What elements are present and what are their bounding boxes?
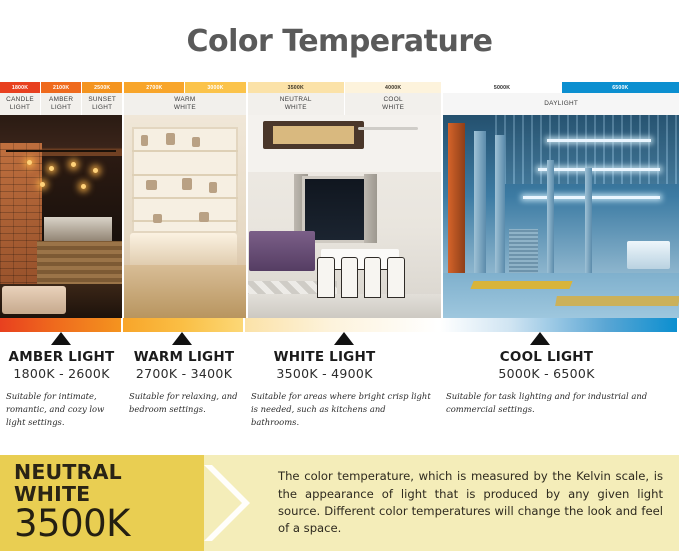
panel-warm: 2700K 3000K WARM WHITE bbox=[124, 82, 247, 318]
captions-row: AMBER LIGHT 1800K - 2600K Suitable for i… bbox=[0, 345, 679, 428]
caption-cool-light: COOL LIGHT 5000K - 6500K Suitable for ta… bbox=[440, 349, 677, 428]
kelvin-chip-5000k: 5000K bbox=[443, 82, 561, 93]
summary-band: NEUTRAL WHITE 3500K The color temperatur… bbox=[0, 455, 679, 551]
panel-cool-names: DAYLIGHT bbox=[443, 93, 679, 115]
marker-warm-light bbox=[172, 332, 192, 345]
kelvin-chip-2700k: 2700K bbox=[124, 82, 185, 93]
scale-markers bbox=[0, 332, 679, 345]
light-name-neutral-white-line2: WHITE bbox=[285, 104, 307, 112]
light-name-neutral-white-line1: NEUTRAL bbox=[280, 96, 312, 104]
caption-warm-range: 2700K - 3400K bbox=[129, 366, 239, 381]
light-name-sunset: SUNSET LIGHT bbox=[82, 93, 122, 115]
light-name-warm-white-line1: WARM bbox=[174, 96, 195, 104]
kelvin-chip-1800k: 1800K bbox=[0, 82, 41, 93]
panel-cool-kelvin-chips: 5000K 6500K bbox=[443, 82, 679, 93]
panel-amber: 1800K 2100K 2500K CANDLE LIGHT AMBER LIG… bbox=[0, 82, 124, 318]
scene-brick-cafe bbox=[0, 115, 122, 318]
caption-white-light: WHITE LIGHT 3500K - 4900K Suitable for a… bbox=[245, 349, 440, 428]
title-section: Color Temperature bbox=[0, 0, 679, 82]
marker-amber-light bbox=[51, 332, 71, 345]
summary-kelvin: 3500K bbox=[0, 505, 196, 544]
scene-living-dining bbox=[248, 115, 442, 318]
caption-warm-light: WARM LIGHT 2700K - 3400K Suitable for re… bbox=[123, 349, 245, 428]
gradient-segment-amber bbox=[0, 318, 123, 332]
caption-warm-title: WARM LIGHT bbox=[129, 349, 239, 365]
caption-amber-title: AMBER LIGHT bbox=[6, 349, 117, 365]
kelvin-chip-3500k: 3500K bbox=[248, 82, 345, 93]
light-name-candle-line1: CANDLE bbox=[6, 96, 34, 104]
gradient-segment-warm bbox=[123, 318, 245, 332]
chevron-right-icon bbox=[204, 455, 266, 551]
light-name-candle-line2: LIGHT bbox=[10, 104, 30, 112]
marker-white-light bbox=[334, 332, 354, 345]
light-name-cool-white-line2: WHITE bbox=[382, 104, 404, 112]
light-name-sunset-line1: SUNSET bbox=[88, 96, 116, 104]
infographic-root: Color Temperature 1800K 2100K 2500K CAND… bbox=[0, 0, 679, 557]
summary-band-divider bbox=[196, 455, 204, 551]
caption-cool-range: 5000K - 6500K bbox=[434, 366, 659, 381]
marker-cool-light bbox=[530, 332, 550, 345]
caption-cool-title: COOL LIGHT bbox=[434, 349, 659, 365]
kelvin-gradient-scale bbox=[0, 318, 679, 332]
light-name-daylight-line1: DAYLIGHT bbox=[544, 100, 578, 108]
light-name-amber-line2: LIGHT bbox=[51, 104, 71, 112]
panel-warm-names: WARM WHITE bbox=[124, 93, 245, 115]
summary-band-left: NEUTRAL WHITE 3500K bbox=[0, 455, 196, 551]
summary-band-right: The color temperature, which is measured… bbox=[204, 455, 679, 551]
light-name-warm-white-line2: WHITE bbox=[174, 104, 196, 112]
caption-amber-light: AMBER LIGHT 1800K - 2600K Suitable for i… bbox=[0, 349, 123, 428]
caption-white-range: 3500K - 4900K bbox=[233, 366, 416, 381]
page-title: Color Temperature bbox=[186, 24, 492, 59]
panel-cool-photo bbox=[443, 115, 679, 318]
kelvin-chip-2500k: 2500K bbox=[82, 82, 122, 93]
panel-neutral-photo bbox=[248, 115, 442, 318]
caption-cool-description: Suitable for task lighting and for indus… bbox=[446, 390, 671, 416]
light-name-sunset-line2: LIGHT bbox=[92, 104, 112, 112]
scene-industrial-warehouse bbox=[443, 115, 679, 318]
panel-neutral-names: NEUTRAL WHITE COOL WHITE bbox=[248, 93, 442, 115]
panel-neutral: 3500K 4000K NEUTRAL WHITE COOL WHITE bbox=[248, 82, 444, 318]
panel-amber-kelvin-chips: 1800K 2100K 2500K bbox=[0, 82, 122, 93]
summary-paragraph: The color temperature, which is measured… bbox=[204, 468, 679, 538]
panels-row: 1800K 2100K 2500K CANDLE LIGHT AMBER LIG… bbox=[0, 82, 679, 318]
panel-neutral-kelvin-chips: 3500K 4000K bbox=[248, 82, 442, 93]
summary-heading: NEUTRAL WHITE bbox=[0, 462, 196, 505]
caption-amber-description: Suitable for intimate, romantic, and coz… bbox=[6, 390, 117, 428]
kelvin-chip-4000k: 4000K bbox=[345, 82, 441, 93]
kelvin-chip-2100k: 2100K bbox=[41, 82, 82, 93]
caption-amber-range: 1800K - 2600K bbox=[6, 366, 117, 381]
light-name-amber: AMBER LIGHT bbox=[41, 93, 82, 115]
panel-cool: 5000K 6500K DAYLIGHT bbox=[443, 82, 679, 318]
scene-warm-lounge bbox=[124, 115, 245, 318]
kelvin-chip-6500k: 6500K bbox=[562, 82, 679, 93]
caption-white-title: WHITE LIGHT bbox=[233, 349, 416, 365]
light-name-candle: CANDLE LIGHT bbox=[0, 93, 41, 115]
light-name-daylight: DAYLIGHT bbox=[443, 93, 679, 115]
panel-warm-kelvin-chips: 2700K 3000K bbox=[124, 82, 245, 93]
caption-white-description: Suitable for areas where bright crisp li… bbox=[251, 390, 434, 428]
gradient-segment-cool bbox=[440, 318, 677, 332]
kelvin-chip-3000k: 3000K bbox=[185, 82, 245, 93]
gradient-segment-white bbox=[245, 318, 440, 332]
panel-amber-photo bbox=[0, 115, 122, 318]
panel-warm-photo bbox=[124, 115, 245, 318]
light-name-cool-white: COOL WHITE bbox=[345, 93, 441, 115]
light-name-amber-line1: AMBER bbox=[49, 96, 73, 104]
light-name-neutral-white: NEUTRAL WHITE bbox=[248, 93, 345, 115]
light-name-warm-white: WARM WHITE bbox=[124, 93, 245, 115]
panel-amber-names: CANDLE LIGHT AMBER LIGHT SUNSET LIGHT bbox=[0, 93, 122, 115]
caption-warm-description: Suitable for relaxing, and bedroom setti… bbox=[129, 390, 239, 416]
light-name-cool-white-line1: COOL bbox=[384, 96, 403, 104]
